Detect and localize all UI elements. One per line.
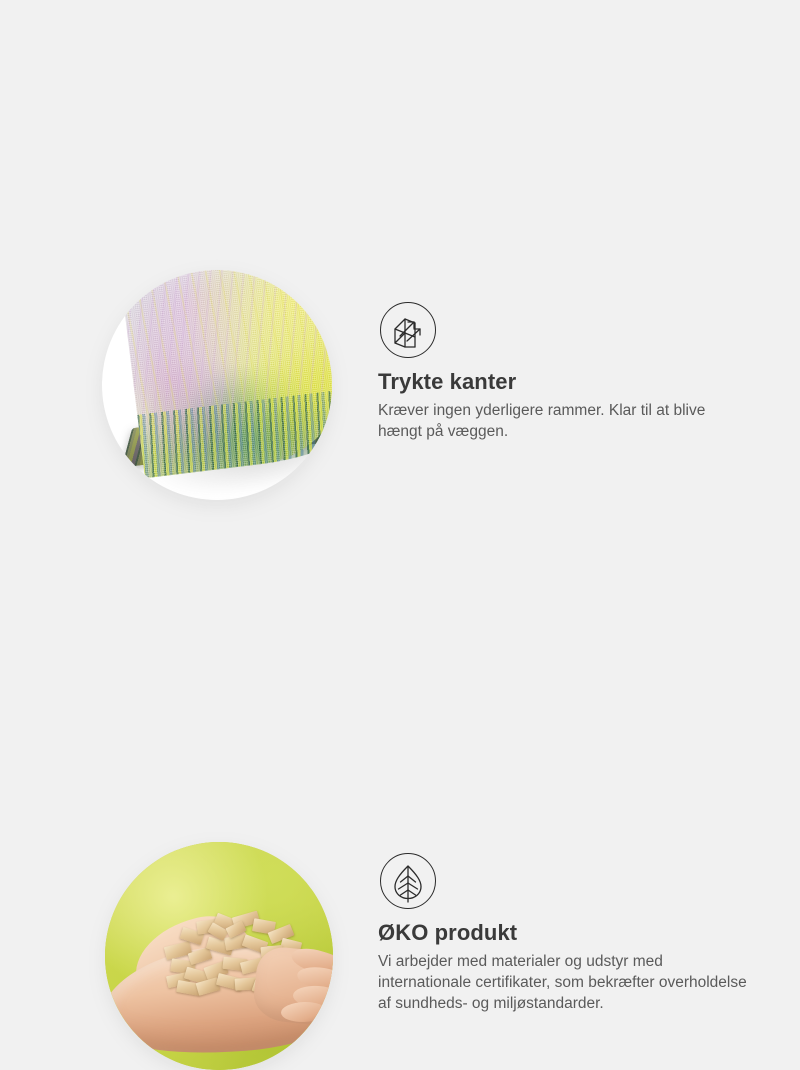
product-features-page: Trykte kanter Kræver ingen yderligere ra… xyxy=(0,0,800,800)
canvas-folded-edge-icon xyxy=(380,302,436,358)
feature-description: Vi arbejder med materialer og udstyr med… xyxy=(378,951,750,1014)
leaf-icon xyxy=(380,853,436,909)
eco-artwork xyxy=(105,842,333,1070)
feature-title: ØKO produkt xyxy=(378,920,517,946)
feature-eco-product: ØKO produkt Vi arbejder med materialer o… xyxy=(0,415,800,665)
hands-holding-wood-chips-photo xyxy=(105,842,333,1070)
feature-title: Trykte kanter xyxy=(378,369,516,395)
feature-printed-edges: Trykte kanter Kræver ingen yderligere ra… xyxy=(0,130,800,380)
